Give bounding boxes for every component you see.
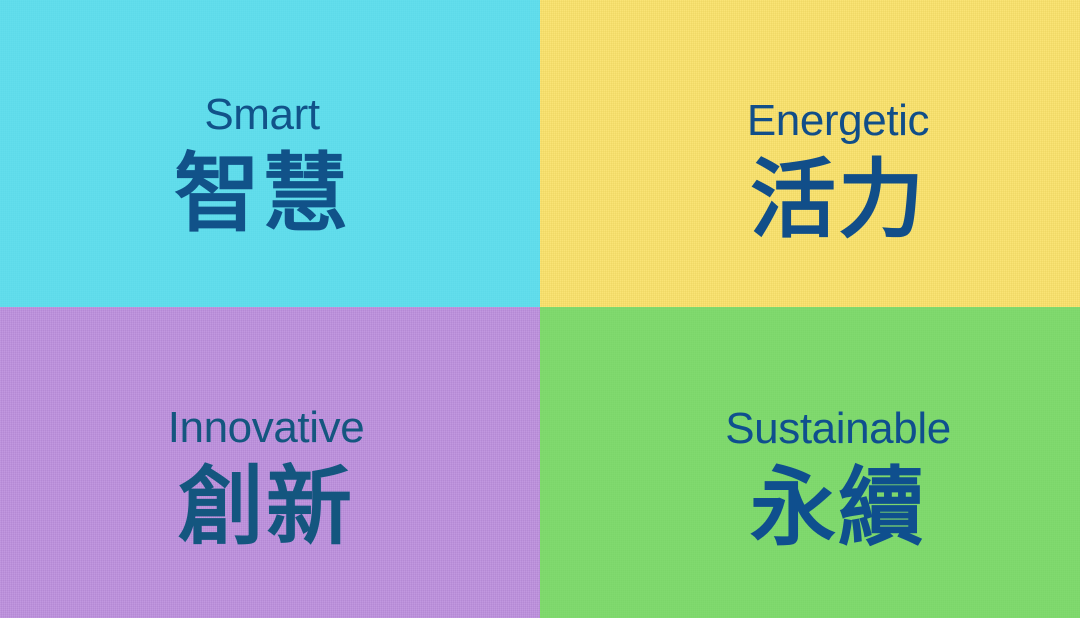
quadrant-innovative-labels: Innovative 創新 bbox=[0, 307, 536, 550]
quadrant-sustainable: Sustainable 永續 bbox=[540, 307, 1080, 618]
quadrant-sustainable-labels: Sustainable 永續 bbox=[568, 307, 1080, 551]
quadrant-energetic: Energetic 活力 bbox=[540, 0, 1080, 307]
quadrant-energetic-label-zh: 活力 bbox=[750, 157, 926, 243]
quadrant-sustainable-label-zh: 永續 bbox=[750, 465, 926, 551]
quadrant-sustainable-label-en: Sustainable bbox=[725, 407, 951, 451]
quadrant-innovative-label-en: Innovative bbox=[168, 406, 365, 450]
quadrant-grid: Smart 智慧 Energetic 活力 Innovative 創新 Sust… bbox=[0, 0, 1080, 618]
quadrant-smart-labels: Smart 智慧 bbox=[0, 0, 532, 237]
quadrant-innovative: Innovative 創新 bbox=[0, 307, 540, 618]
brand-values-poster: Smart 智慧 Energetic 活力 Innovative 創新 Sust… bbox=[0, 0, 1080, 618]
quadrant-energetic-labels: Energetic 活力 bbox=[568, 0, 1080, 243]
quadrant-innovative-label-zh: 創新 bbox=[178, 464, 354, 550]
quadrant-smart: Smart 智慧 bbox=[0, 0, 540, 307]
quadrant-smart-label-en: Smart bbox=[204, 93, 319, 137]
quadrant-energetic-label-en: Energetic bbox=[747, 99, 929, 143]
quadrant-smart-label-zh: 智慧 bbox=[174, 151, 350, 237]
